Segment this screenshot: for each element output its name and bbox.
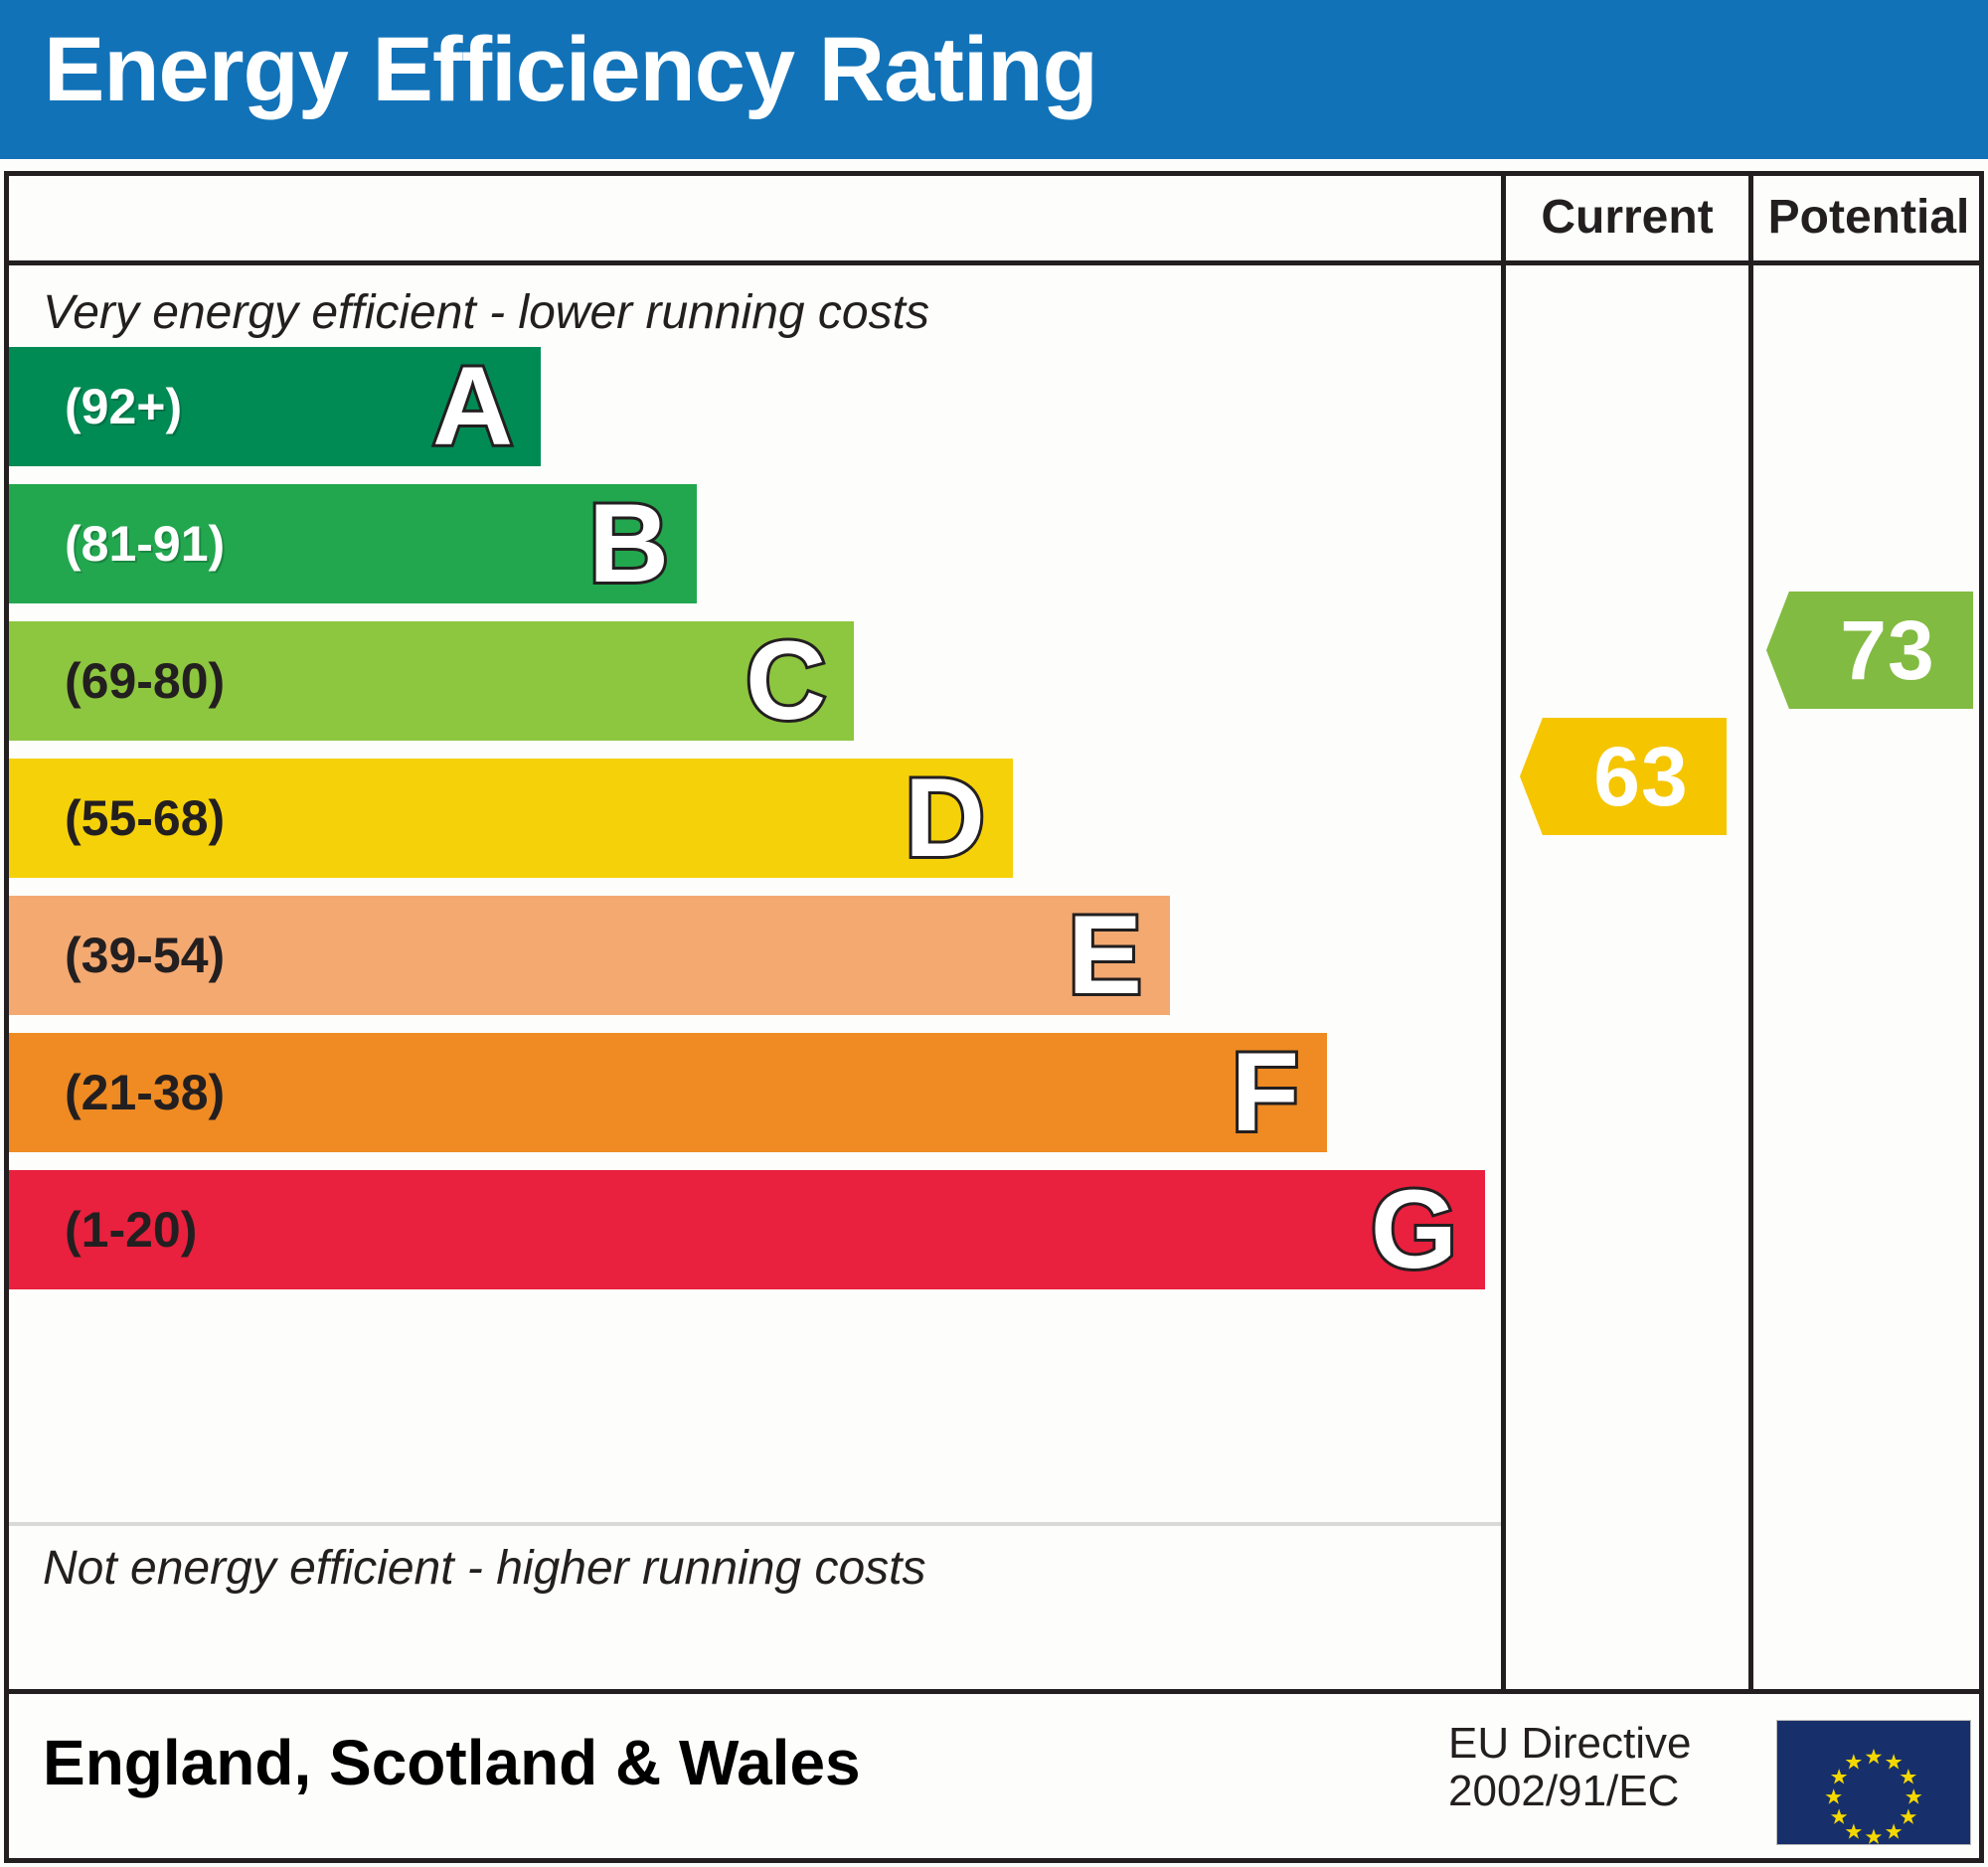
page-title: Energy Efficiency Rating — [44, 18, 1097, 122]
certificate-footer: England, Scotland & Wales EU Directive 2… — [4, 1694, 1984, 1863]
eu-flag-icon — [1776, 1720, 1971, 1845]
column-divider-potential — [1748, 176, 1753, 1689]
band-letter-b: B — [588, 488, 669, 599]
band-letter-d: D — [905, 763, 985, 874]
directive-line-2: 2002/91/EC — [1448, 1768, 1692, 1815]
potential-rating-arrow: 73 — [1766, 592, 1973, 709]
footer-region-label: England, Scotland & Wales — [43, 1726, 861, 1799]
rating-band-e: (39-54) E — [9, 896, 1170, 1015]
column-header-potential: Potential — [1753, 190, 1984, 245]
band-range-a: (92+) — [65, 378, 182, 435]
column-header-current: Current — [1506, 190, 1748, 245]
rating-band-g: (1-20) G — [9, 1170, 1485, 1289]
rating-band-f: (21-38) F — [9, 1033, 1327, 1152]
directive-line-1: EU Directive — [1448, 1720, 1692, 1768]
current-rating-arrow: 63 — [1520, 718, 1727, 835]
band-range-e: (39-54) — [65, 927, 225, 984]
potential-rating-value: 73 — [1804, 602, 1934, 699]
current-rating-value: 63 — [1558, 729, 1688, 825]
band-range-c: (69-80) — [65, 652, 225, 710]
rating-table: Current Potential Very energy efficient … — [4, 171, 1984, 1694]
band-range-f: (21-38) — [65, 1064, 225, 1121]
band-letter-a: A — [432, 351, 513, 462]
band-range-b: (81-91) — [65, 515, 225, 573]
caption-very-efficient: Very energy efficient - lower running co… — [43, 285, 929, 340]
band-letter-f: F — [1232, 1037, 1299, 1148]
rating-bands-panel: Very energy efficient - lower running co… — [9, 265, 1501, 1694]
rating-band-c: (69-80) C — [9, 621, 854, 741]
band-letter-c: C — [745, 625, 826, 737]
rating-band-b: (81-91) B — [9, 484, 697, 603]
footer-directive: EU Directive 2002/91/EC — [1448, 1720, 1692, 1816]
column-divider-current — [1501, 176, 1506, 1689]
band-letter-g: G — [1371, 1174, 1457, 1285]
rating-band-d: (55-68) D — [9, 759, 1013, 878]
caption-not-efficient: Not energy efficient - higher running co… — [43, 1541, 925, 1596]
energy-efficiency-certificate: Energy Efficiency Rating Current Potenti… — [0, 0, 1988, 1867]
rating-band-a: (92+) A — [9, 347, 541, 466]
band-range-d: (55-68) — [65, 789, 225, 847]
title-bar: Energy Efficiency Rating — [0, 0, 1988, 159]
band-range-g: (1-20) — [65, 1201, 197, 1259]
panel-divider — [9, 1522, 1501, 1526]
band-letter-e: E — [1068, 900, 1142, 1011]
